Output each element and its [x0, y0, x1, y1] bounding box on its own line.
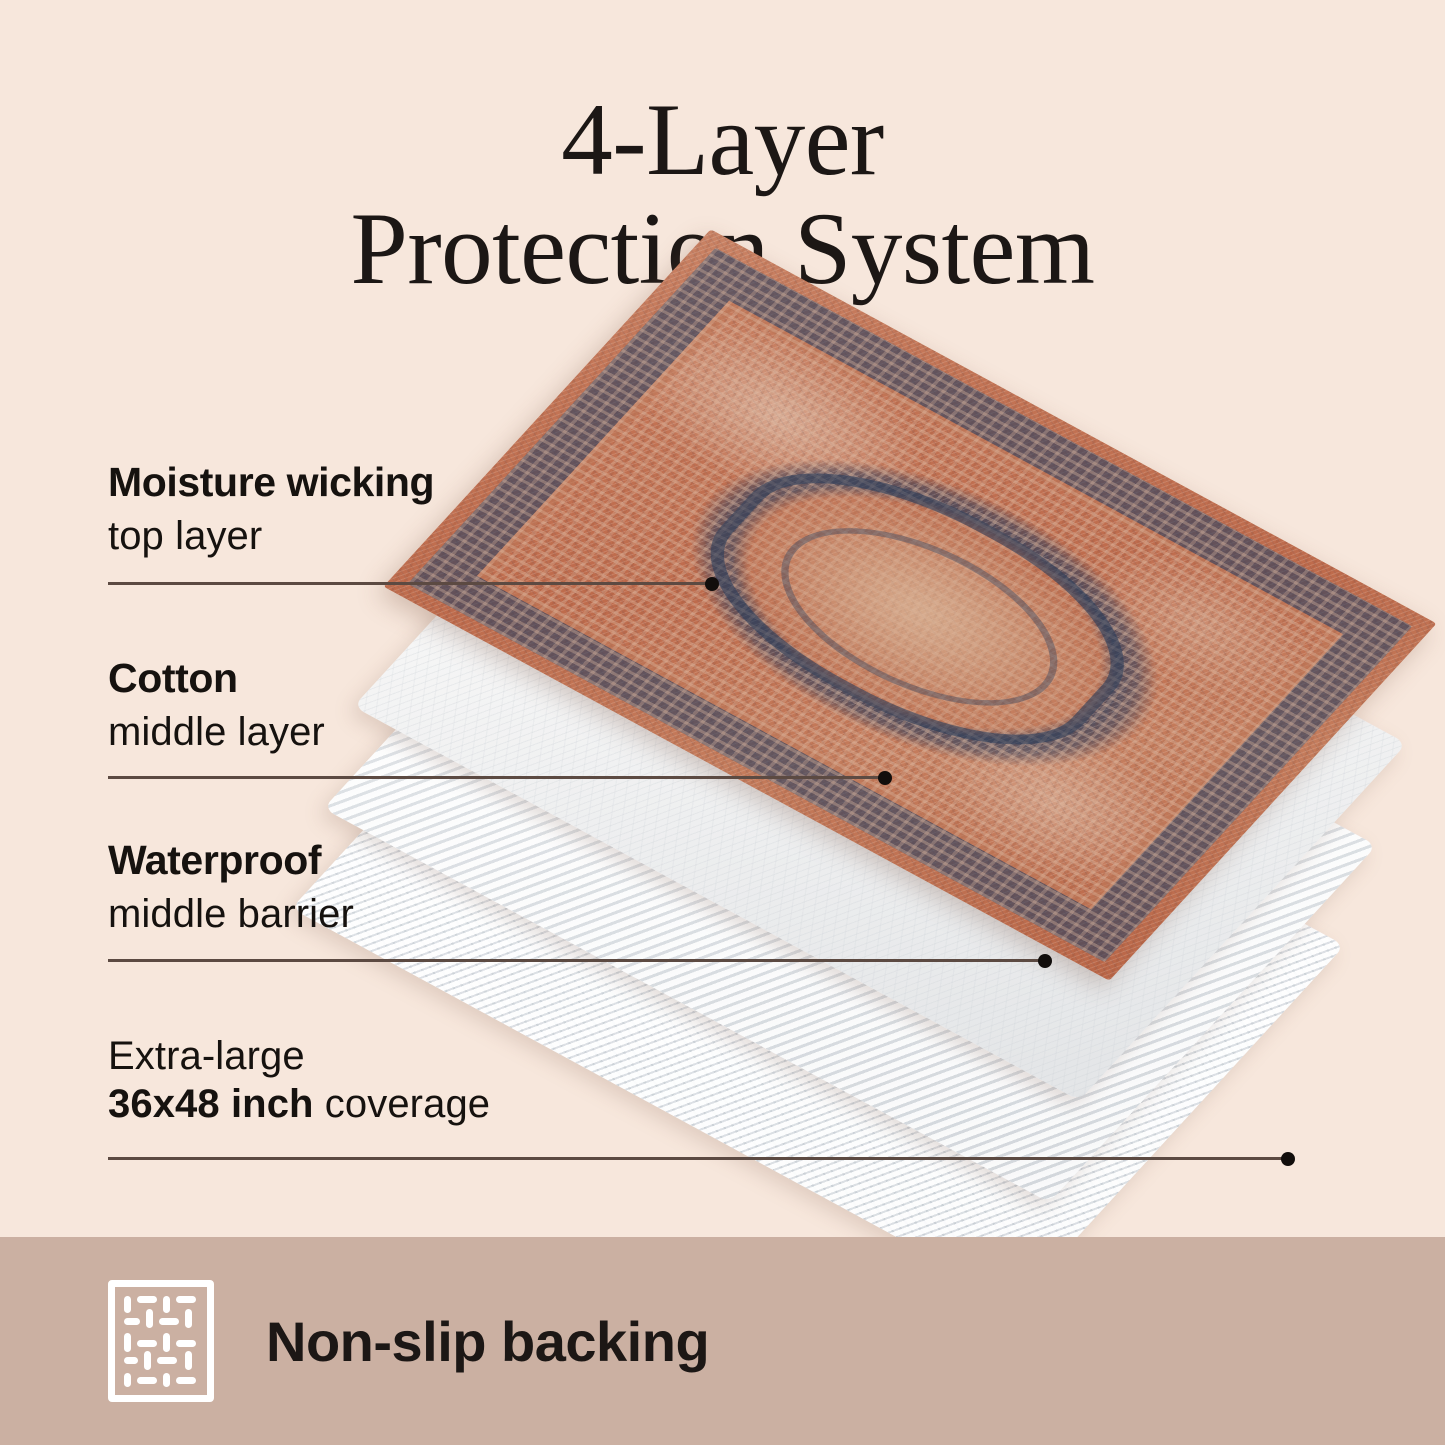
callout-heading: Moisture wicking: [108, 460, 434, 506]
callout-subtext: 36x48 inch coverage: [108, 1080, 490, 1128]
coverage-suffix: coverage: [314, 1082, 491, 1126]
callout-moisture-wicking: Moisture wicking top layer: [108, 460, 434, 560]
callout-cotton: Cotton middle layer: [108, 656, 325, 756]
leader-dot: [1038, 954, 1052, 968]
callout-heading: Cotton: [108, 656, 325, 702]
rug-surface: [383, 229, 1436, 980]
leader-line-waterproof: [108, 959, 1045, 962]
non-slip-footer-bar: Non-slip backing: [0, 1237, 1445, 1445]
leader-line-coverage: [108, 1157, 1288, 1160]
title-line-1: 4-Layer: [0, 86, 1445, 195]
callout-subtext: middle layer: [108, 708, 325, 756]
leader-line-cotton: [108, 776, 885, 779]
infographic-canvas: 4-Layer Protection System: [0, 0, 1445, 1445]
non-slip-label: Non-slip backing: [266, 1309, 709, 1374]
callout-subtext: middle barrier: [108, 890, 354, 938]
callout-heading: Waterproof: [108, 838, 354, 884]
callout-subtext: top layer: [108, 512, 434, 560]
coverage-dimensions: 36x48 inch: [108, 1082, 314, 1126]
leader-line-moisture-wicking: [108, 582, 712, 585]
layer-stack-illustration: [520, 360, 1445, 1190]
non-slip-weave-icon: [108, 1280, 214, 1402]
leader-dot: [878, 771, 892, 785]
leader-dot: [1281, 1152, 1295, 1166]
callout-coverage: Extra-large 36x48 inch coverage: [108, 1032, 490, 1128]
callout-heading: Extra-large: [108, 1032, 490, 1080]
leader-dot: [705, 577, 719, 591]
callout-waterproof: Waterproof middle barrier: [108, 838, 354, 938]
rug-top-layer: [520, 360, 1445, 900]
